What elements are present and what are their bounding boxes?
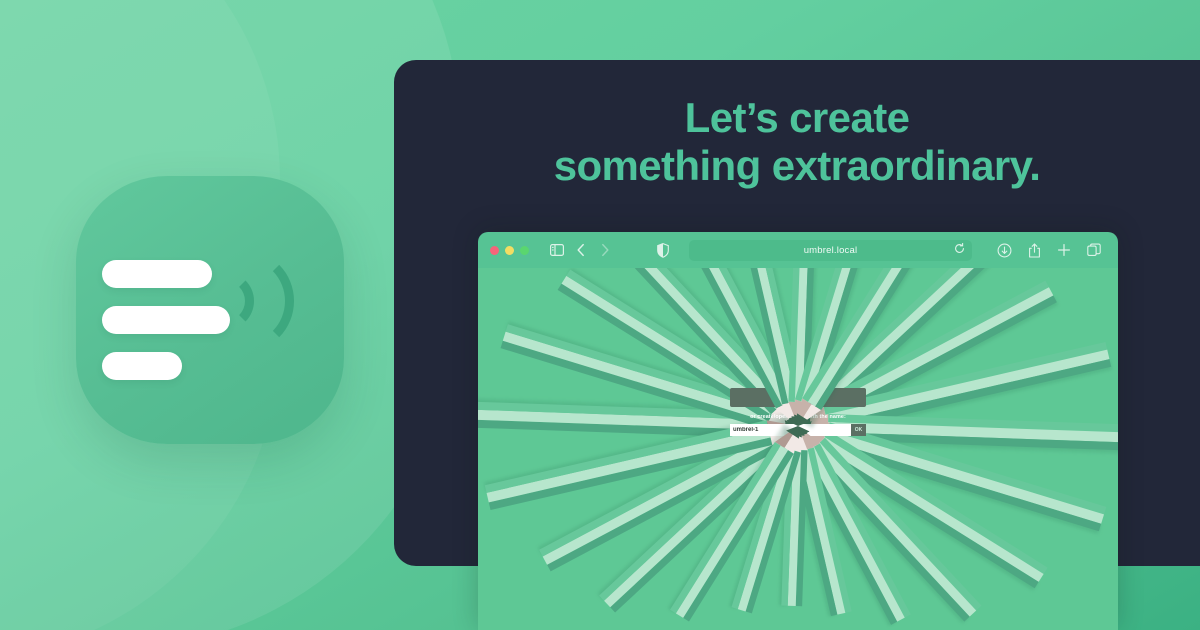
logo-bar-3 (102, 352, 182, 380)
browser-window: umbrel.local (478, 232, 1118, 630)
page-title: Let’s create something extraordinary. (394, 94, 1200, 190)
minimize-window-button[interactable] (505, 246, 514, 255)
downloads-icon[interactable] (992, 238, 1016, 262)
new-tab-icon[interactable] (1052, 238, 1076, 262)
privacy-shield-icon[interactable] (651, 238, 675, 262)
poster-canvas: Let’s create something extraordinary. (0, 0, 1200, 630)
headline-line-1: Let’s create (394, 94, 1200, 142)
headline-line-2: something extraordinary. (394, 142, 1200, 190)
share-icon[interactable] (1022, 238, 1046, 262)
etherpad-app-icon (76, 176, 344, 444)
pencil-illustration (478, 268, 1118, 630)
toolbar-right-icons (992, 238, 1106, 262)
url-text: umbrel.local (804, 245, 858, 256)
tab-overview-icon[interactable] (1082, 238, 1106, 262)
pad-ok-button[interactable]: OK (851, 424, 866, 436)
back-icon[interactable] (569, 238, 593, 262)
logo-wave-outer-icon (194, 250, 294, 352)
traffic-lights (490, 246, 529, 255)
reload-icon[interactable] (954, 241, 965, 259)
close-window-button[interactable] (490, 246, 499, 255)
browser-toolbar: umbrel.local (478, 232, 1118, 268)
forward-icon[interactable] (593, 238, 617, 262)
address-bar[interactable]: umbrel.local (689, 240, 972, 261)
logo-bar-1 (102, 260, 212, 288)
sidebar-toggle-icon[interactable] (545, 238, 569, 262)
etherpad-page-viewport: New Pad or create/open a Pad with the na… (478, 268, 1118, 630)
zoom-window-button[interactable] (520, 246, 529, 255)
